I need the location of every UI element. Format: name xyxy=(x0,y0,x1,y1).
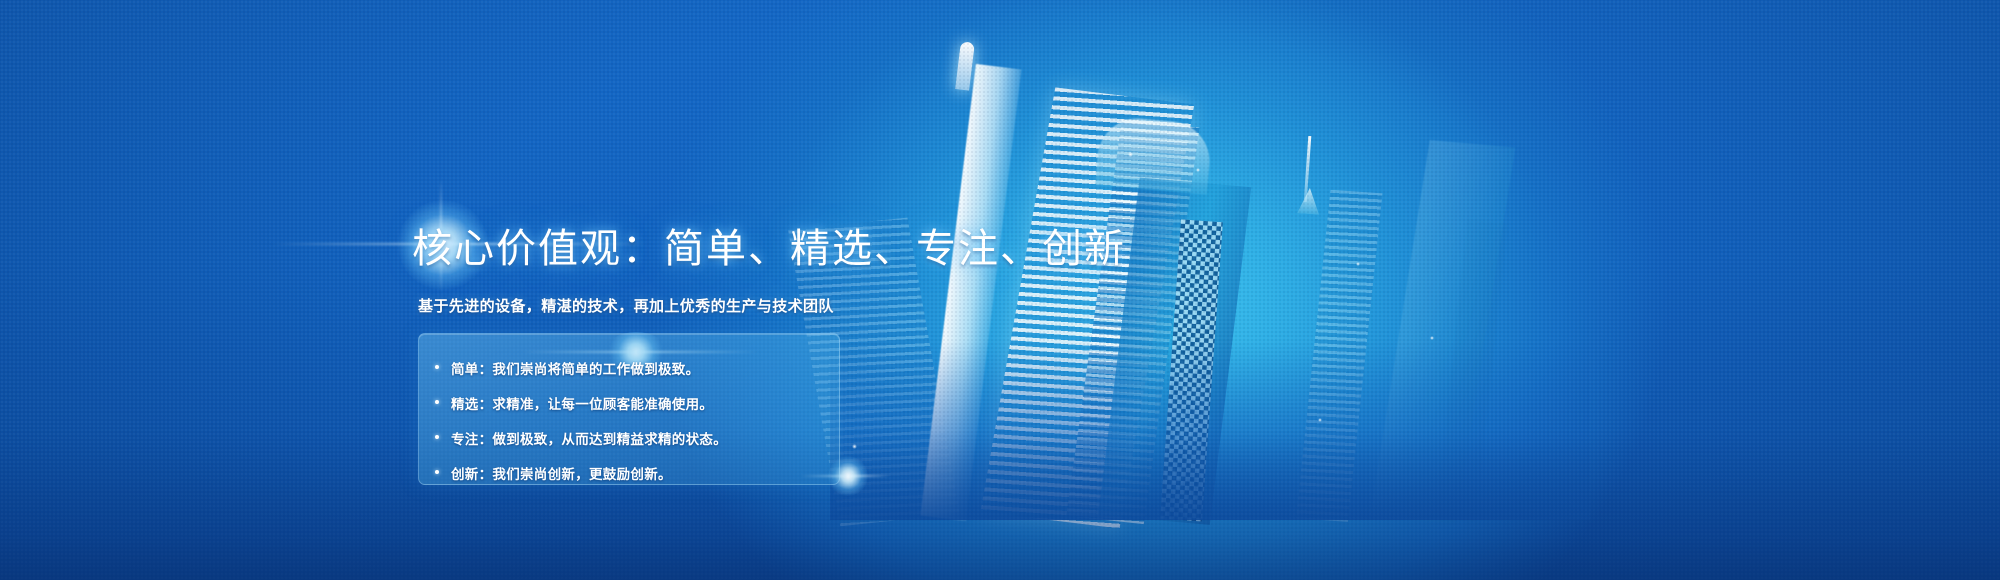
list-item: 创新：我们崇尚创新，更鼓励创新。 xyxy=(419,463,839,483)
list-item: 专注：做到极致，从而达到精益求精的状态。 xyxy=(419,428,839,448)
list-item-label: 专注：做到极致，从而达到精益求精的状态。 xyxy=(451,432,727,447)
list-item: 精选：求精准，让每一位顾客能准确使用。 xyxy=(419,393,839,413)
list-item-label: 简单：我们崇尚将简单的工作做到极致。 xyxy=(451,362,699,377)
banner-content: 核心价值观：简单、精选、专注、创新 基于先进的设备，精湛的技术，再加上优秀的生产… xyxy=(0,0,2000,580)
list-item: 简单：我们崇尚将简单的工作做到极致。 xyxy=(419,358,839,378)
core-values-panel: 简单：我们崇尚将简单的工作做到极致。 精选：求精准，让每一位顾客能准确使用。 专… xyxy=(418,333,840,485)
page-title: 核心价值观：简单、精选、专注、创新 xyxy=(412,216,1126,274)
page-subtitle: 基于先进的设备，精湛的技术，再加上优秀的生产与技术团队 xyxy=(418,295,834,316)
bullet-dot-icon xyxy=(435,470,439,474)
hero-banner: 核心价值观：简单、精选、专注、创新 基于先进的设备，精湛的技术，再加上优秀的生产… xyxy=(0,0,2000,580)
bullet-dot-icon xyxy=(435,435,439,439)
bullet-dot-icon xyxy=(435,400,439,404)
bullet-dot-icon xyxy=(435,365,439,369)
list-item-label: 精选：求精准，让每一位顾客能准确使用。 xyxy=(451,397,713,412)
list-item-label: 创新：我们崇尚创新，更鼓励创新。 xyxy=(451,467,672,482)
core-values-list: 简单：我们崇尚将简单的工作做到极致。 精选：求精准，让每一位顾客能准确使用。 专… xyxy=(419,334,839,485)
